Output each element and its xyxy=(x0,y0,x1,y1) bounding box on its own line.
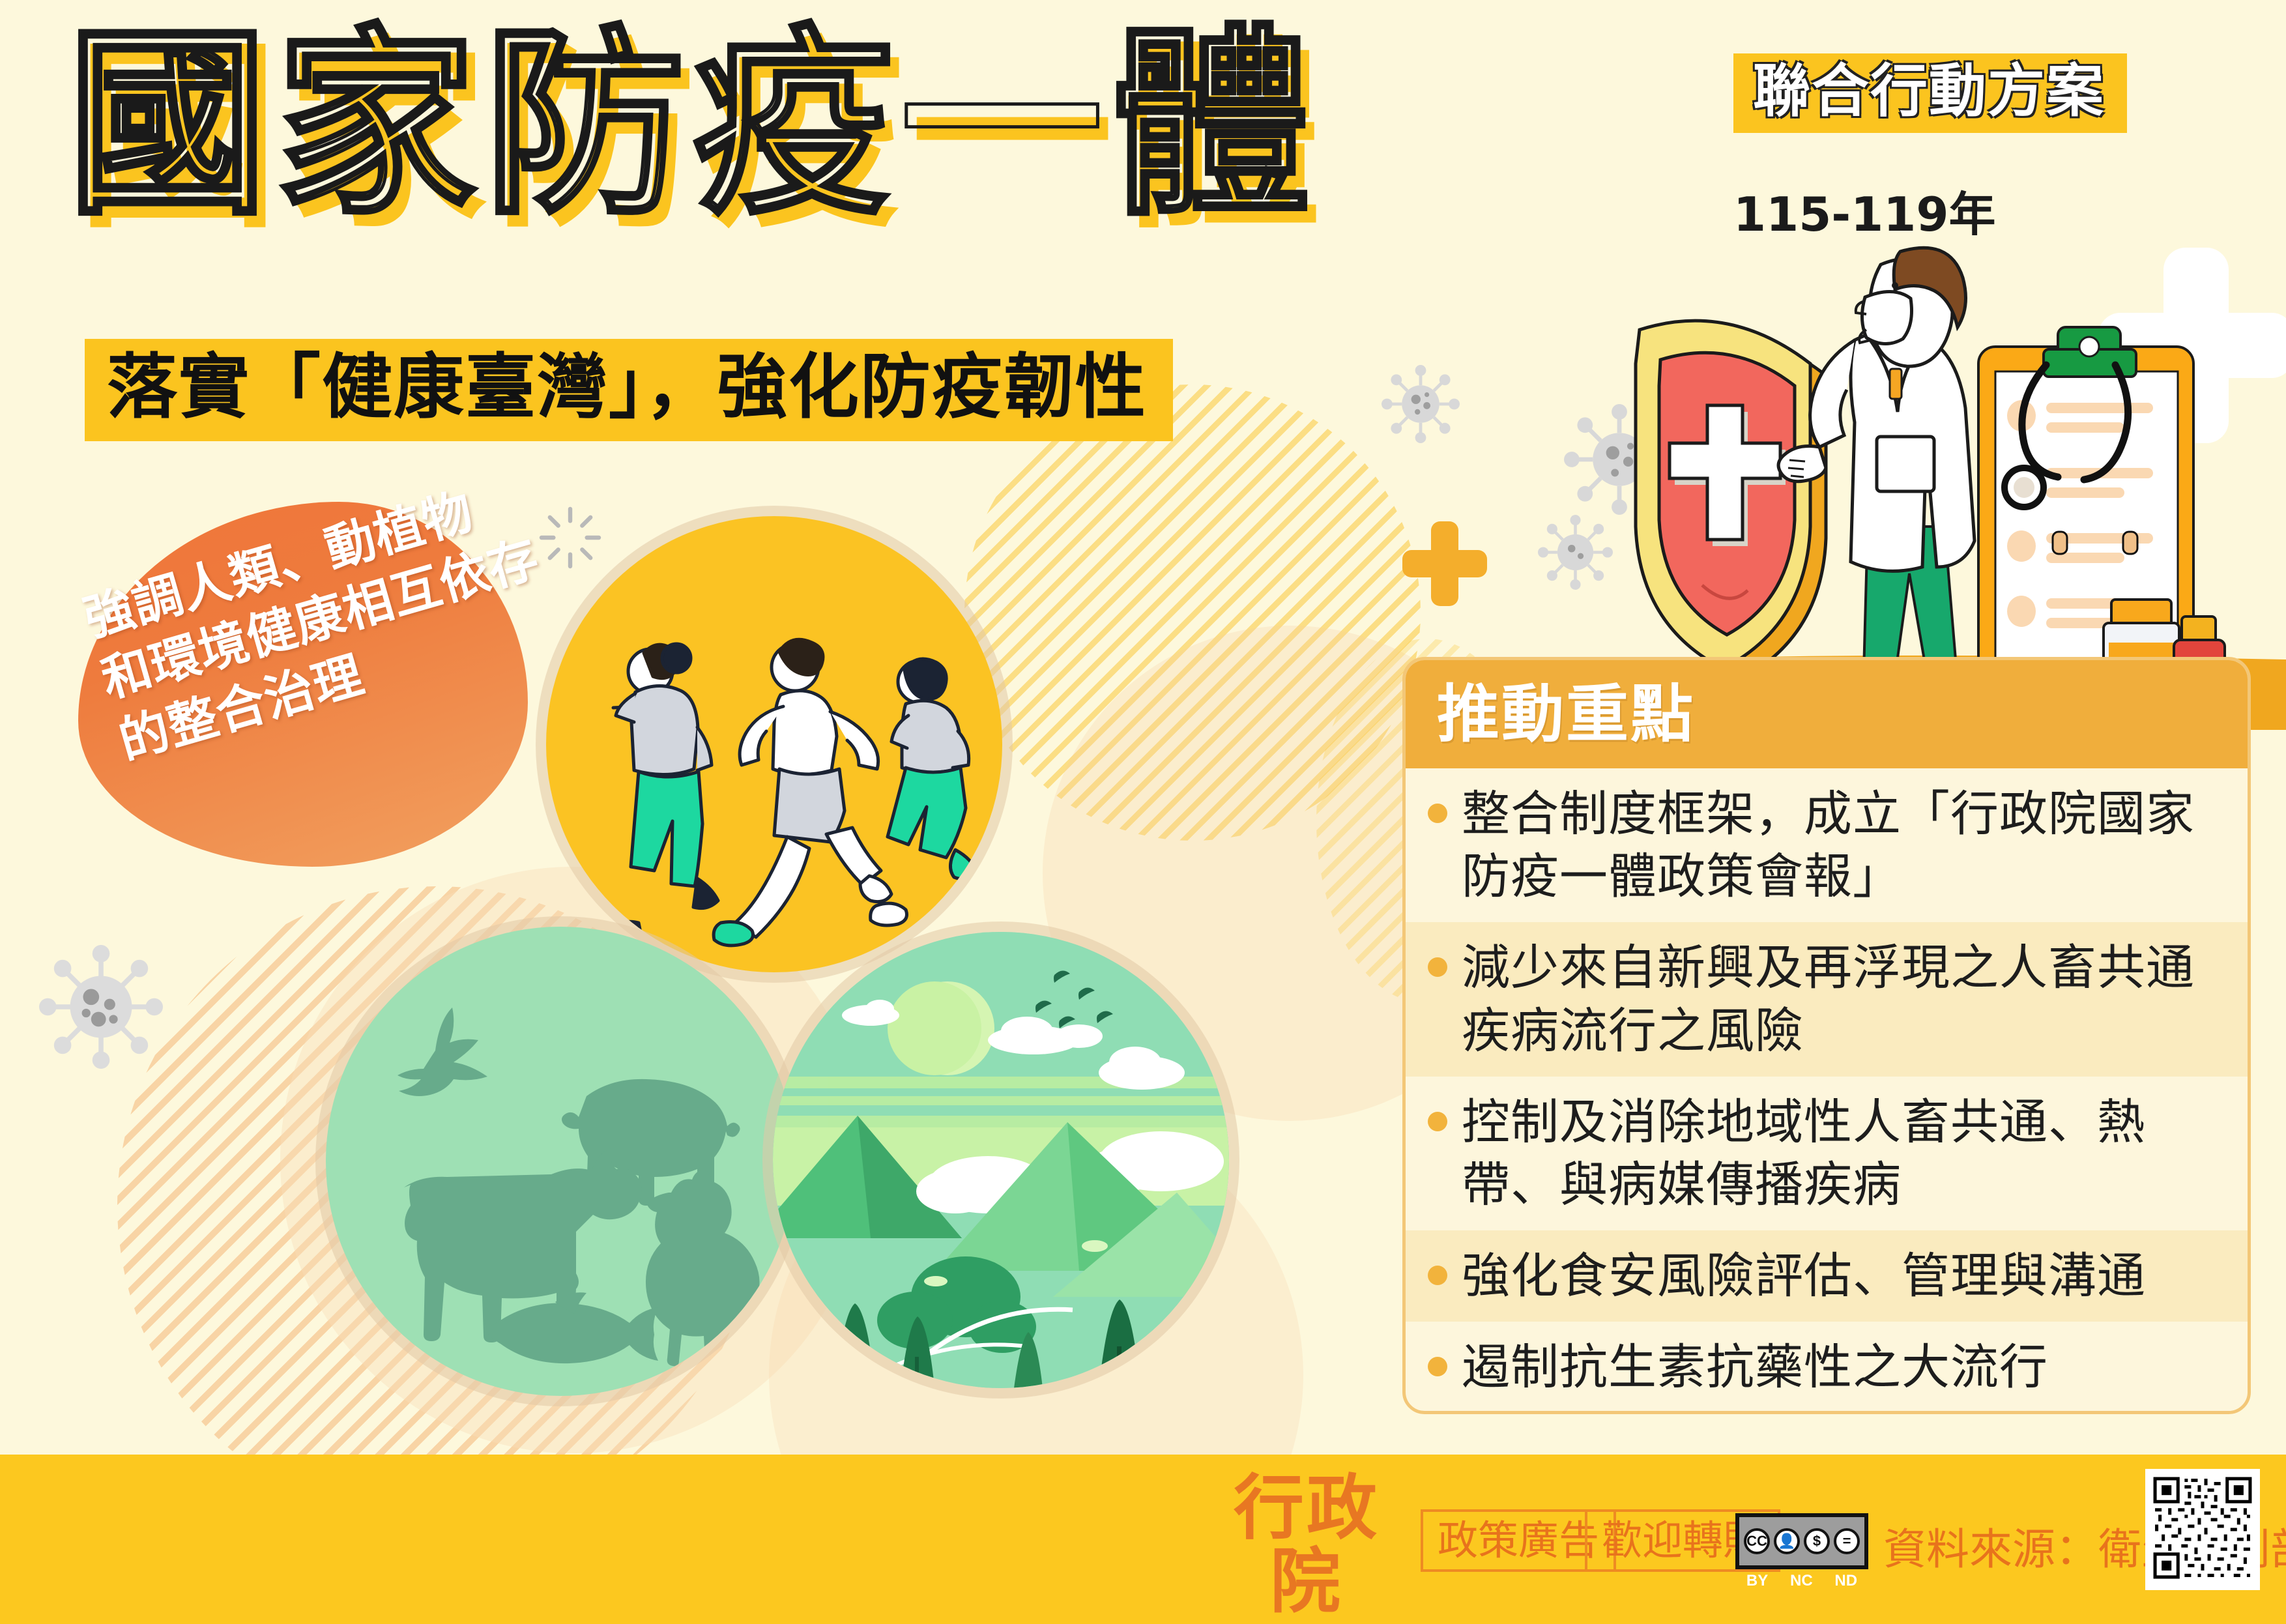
logo-chinese: 行政院 xyxy=(1199,1472,1414,1619)
poster-root: 國家防疫一體 國家防疫一體 落實「健康臺灣」，強化防疫韌性 聯合行動方案 115… xyxy=(0,0,2286,1624)
cc-nd-icon: = xyxy=(1834,1528,1860,1554)
list-item[interactable]: 遏制抗生素抗藥性之大流行 xyxy=(1406,1322,2248,1413)
footer-bar: 行政院 Executive Yuan 政策廣告 歡迎轉貼 CC 👤 $ = BY… xyxy=(0,1455,2286,1624)
qr-code[interactable] xyxy=(2145,1469,2260,1590)
bullet-dot-icon xyxy=(1428,1266,1447,1285)
page-title-outline: 國家防疫一體 xyxy=(66,0,1318,255)
animals-illustration-circle xyxy=(326,927,795,1396)
shield-icon xyxy=(1636,321,1826,680)
sparkle-icon xyxy=(534,502,606,573)
cc-nc-icon: $ xyxy=(1804,1528,1830,1554)
bullet-dot-icon xyxy=(1428,804,1447,823)
list-item-label: 控制及消除地域性人畜共通、熱帶、與病媒傳播疾病 xyxy=(1462,1091,2218,1216)
executive-yuan-logo: 行政院 Executive Yuan xyxy=(1199,1472,1414,1624)
cc-term-nd: ND xyxy=(1834,1572,1857,1590)
list-item[interactable]: 整合制度框架，成立「行政院國家防疫一體政策會報」 xyxy=(1406,768,2248,922)
list-item[interactable]: 強化食安風險評估、管理與溝通 xyxy=(1406,1230,2248,1322)
virus-icon xyxy=(1382,365,1460,443)
list-item[interactable]: 減少來自新興及再浮現之人畜共通疾病流行之風險 xyxy=(1406,922,2248,1076)
program-badge-label: 聯合行動方案 xyxy=(1753,57,2105,124)
list-item-label: 減少來自新興及再浮現之人畜共通疾病流行之風險 xyxy=(1462,936,2218,1062)
bullet-dot-icon xyxy=(1428,1112,1447,1131)
page-title: 國家防疫一體 國家防疫一體 xyxy=(77,8,1654,288)
plus-icon-orange xyxy=(1402,521,1487,606)
cc-mark-icon: CC xyxy=(1744,1528,1770,1554)
list-item[interactable]: 環境整合納入防疫一體 xyxy=(1406,1414,2248,1415)
bird-silhouette xyxy=(398,1008,487,1096)
program-years: 115-119年 xyxy=(1733,176,1995,244)
cc-license-badge: CC 👤 $ = xyxy=(1735,1513,1868,1569)
chicken-silhouette xyxy=(646,1170,770,1367)
doctor-figure xyxy=(1778,248,1975,708)
nature-illustration-circle xyxy=(773,932,1229,1388)
bullet-dot-icon xyxy=(1428,957,1447,977)
key-points-heading: 推動重點 xyxy=(1437,683,1695,746)
virus-icon xyxy=(39,945,163,1069)
people-illustration-circle xyxy=(546,516,1002,972)
cc-license-terms: BY NC ND xyxy=(1735,1572,1868,1590)
key-points-panel: 推動重點 整合制度框架，成立「行政院國家防疫一體政策會報」 減少來自新興及再浮現… xyxy=(1402,657,2251,1414)
cc-term-nc: NC xyxy=(1790,1572,1813,1590)
page-subtitle-banner: 落實「健康臺灣」，強化防疫韌性 xyxy=(85,339,1173,441)
list-item-label: 整合制度框架，成立「行政院國家防疫一體政策會報」 xyxy=(1462,783,2218,908)
cc-by-icon: 👤 xyxy=(1774,1528,1800,1554)
key-points-header: 推動重點 xyxy=(1406,660,2248,768)
page-subtitle: 落實「健康臺灣」，強化防疫韌性 xyxy=(107,347,1147,428)
program-badge: 聯合行動方案 xyxy=(1733,53,2127,133)
bg-stripe-circle-1 xyxy=(964,384,1421,841)
bullet-dot-icon xyxy=(1428,1357,1447,1376)
list-item[interactable]: 控制及消除地域性人畜共通、熱帶、與病媒傳播疾病 xyxy=(1406,1077,2248,1230)
list-item-label: 強化食安風險評估、管理與溝通 xyxy=(1462,1245,2146,1307)
cc-term-by: BY xyxy=(1746,1572,1768,1590)
list-item-label: 遏制抗生素抗藥性之大流行 xyxy=(1462,1336,2048,1399)
